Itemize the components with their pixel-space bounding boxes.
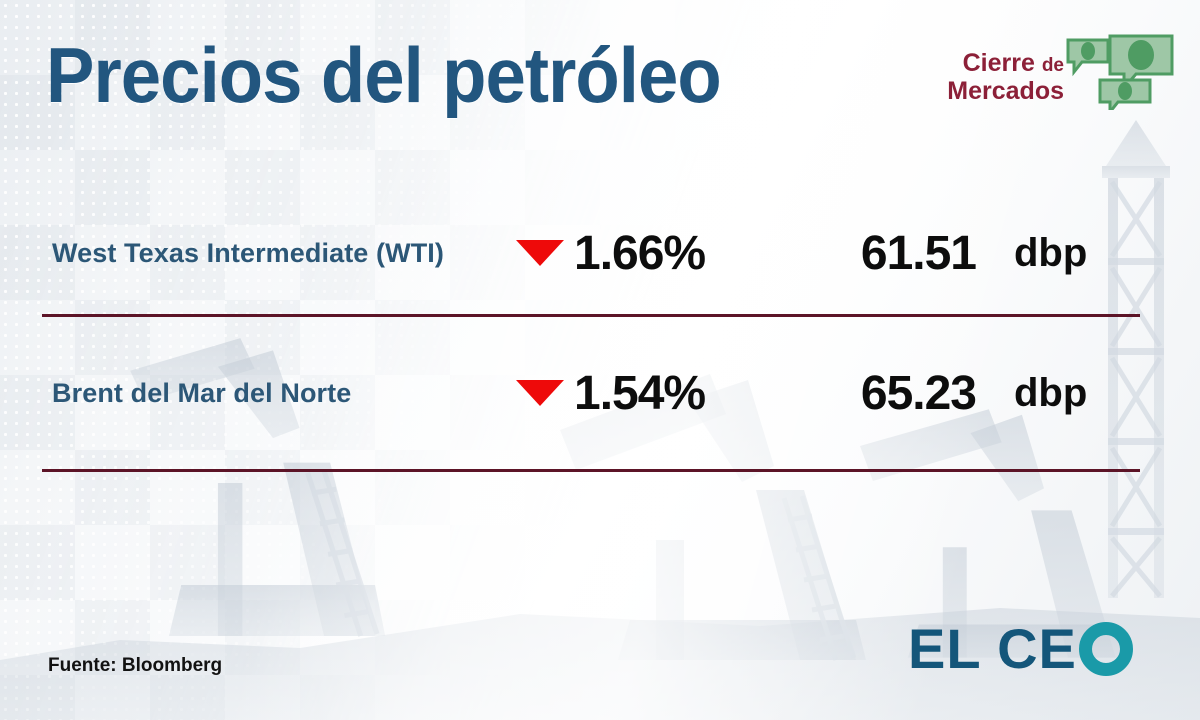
page-title: Precios del petróleo <box>46 36 721 114</box>
el-ceo-ring-icon <box>1079 622 1133 676</box>
row-change-value: 1.66% <box>574 226 705 281</box>
row-price-unit: dbp <box>1014 371 1087 416</box>
row-change-brent: 1.54% <box>516 366 705 421</box>
row-change-value: 1.54% <box>574 366 705 421</box>
oil-prices-card: Precios del petróleo Cierre de Mercados … <box>0 0 1200 720</box>
triangle-down-icon <box>516 380 564 406</box>
table-row: Brent del Mar del Norte 1.54% 65.23 dbp <box>0 348 1200 438</box>
money-bill-speech-bubble-icon <box>1064 32 1176 110</box>
cierre-de-mercados-wordmark: Cierre de Mercados <box>947 50 1064 105</box>
row-divider <box>42 314 1140 317</box>
brand-line1-main: Cierre <box>963 49 1035 77</box>
el-ceo-wordmark: EL CE <box>908 621 1077 677</box>
row-divider <box>42 469 1140 472</box>
triangle-down-icon <box>516 240 564 266</box>
table-row: West Texas Intermediate (WTI) 1.66% 61.5… <box>0 208 1200 298</box>
brand-line2: Mercados <box>947 78 1064 106</box>
row-change-wti: 1.66% <box>516 226 705 281</box>
row-price-value: 61.51 <box>828 226 976 281</box>
row-label-brent: Brent del Mar del Norte <box>52 378 351 409</box>
row-label-wti: West Texas Intermediate (WTI) <box>52 238 444 269</box>
cierre-de-mercados-logo: Cierre de Mercados <box>942 28 1182 124</box>
row-price-value: 65.23 <box>828 366 976 421</box>
el-ceo-logo: EL CE <box>908 618 1133 680</box>
source-attribution: Fuente: Bloomberg <box>48 655 222 677</box>
row-price-unit: dbp <box>1014 231 1087 276</box>
brand-line1-small: de <box>1042 55 1064 76</box>
